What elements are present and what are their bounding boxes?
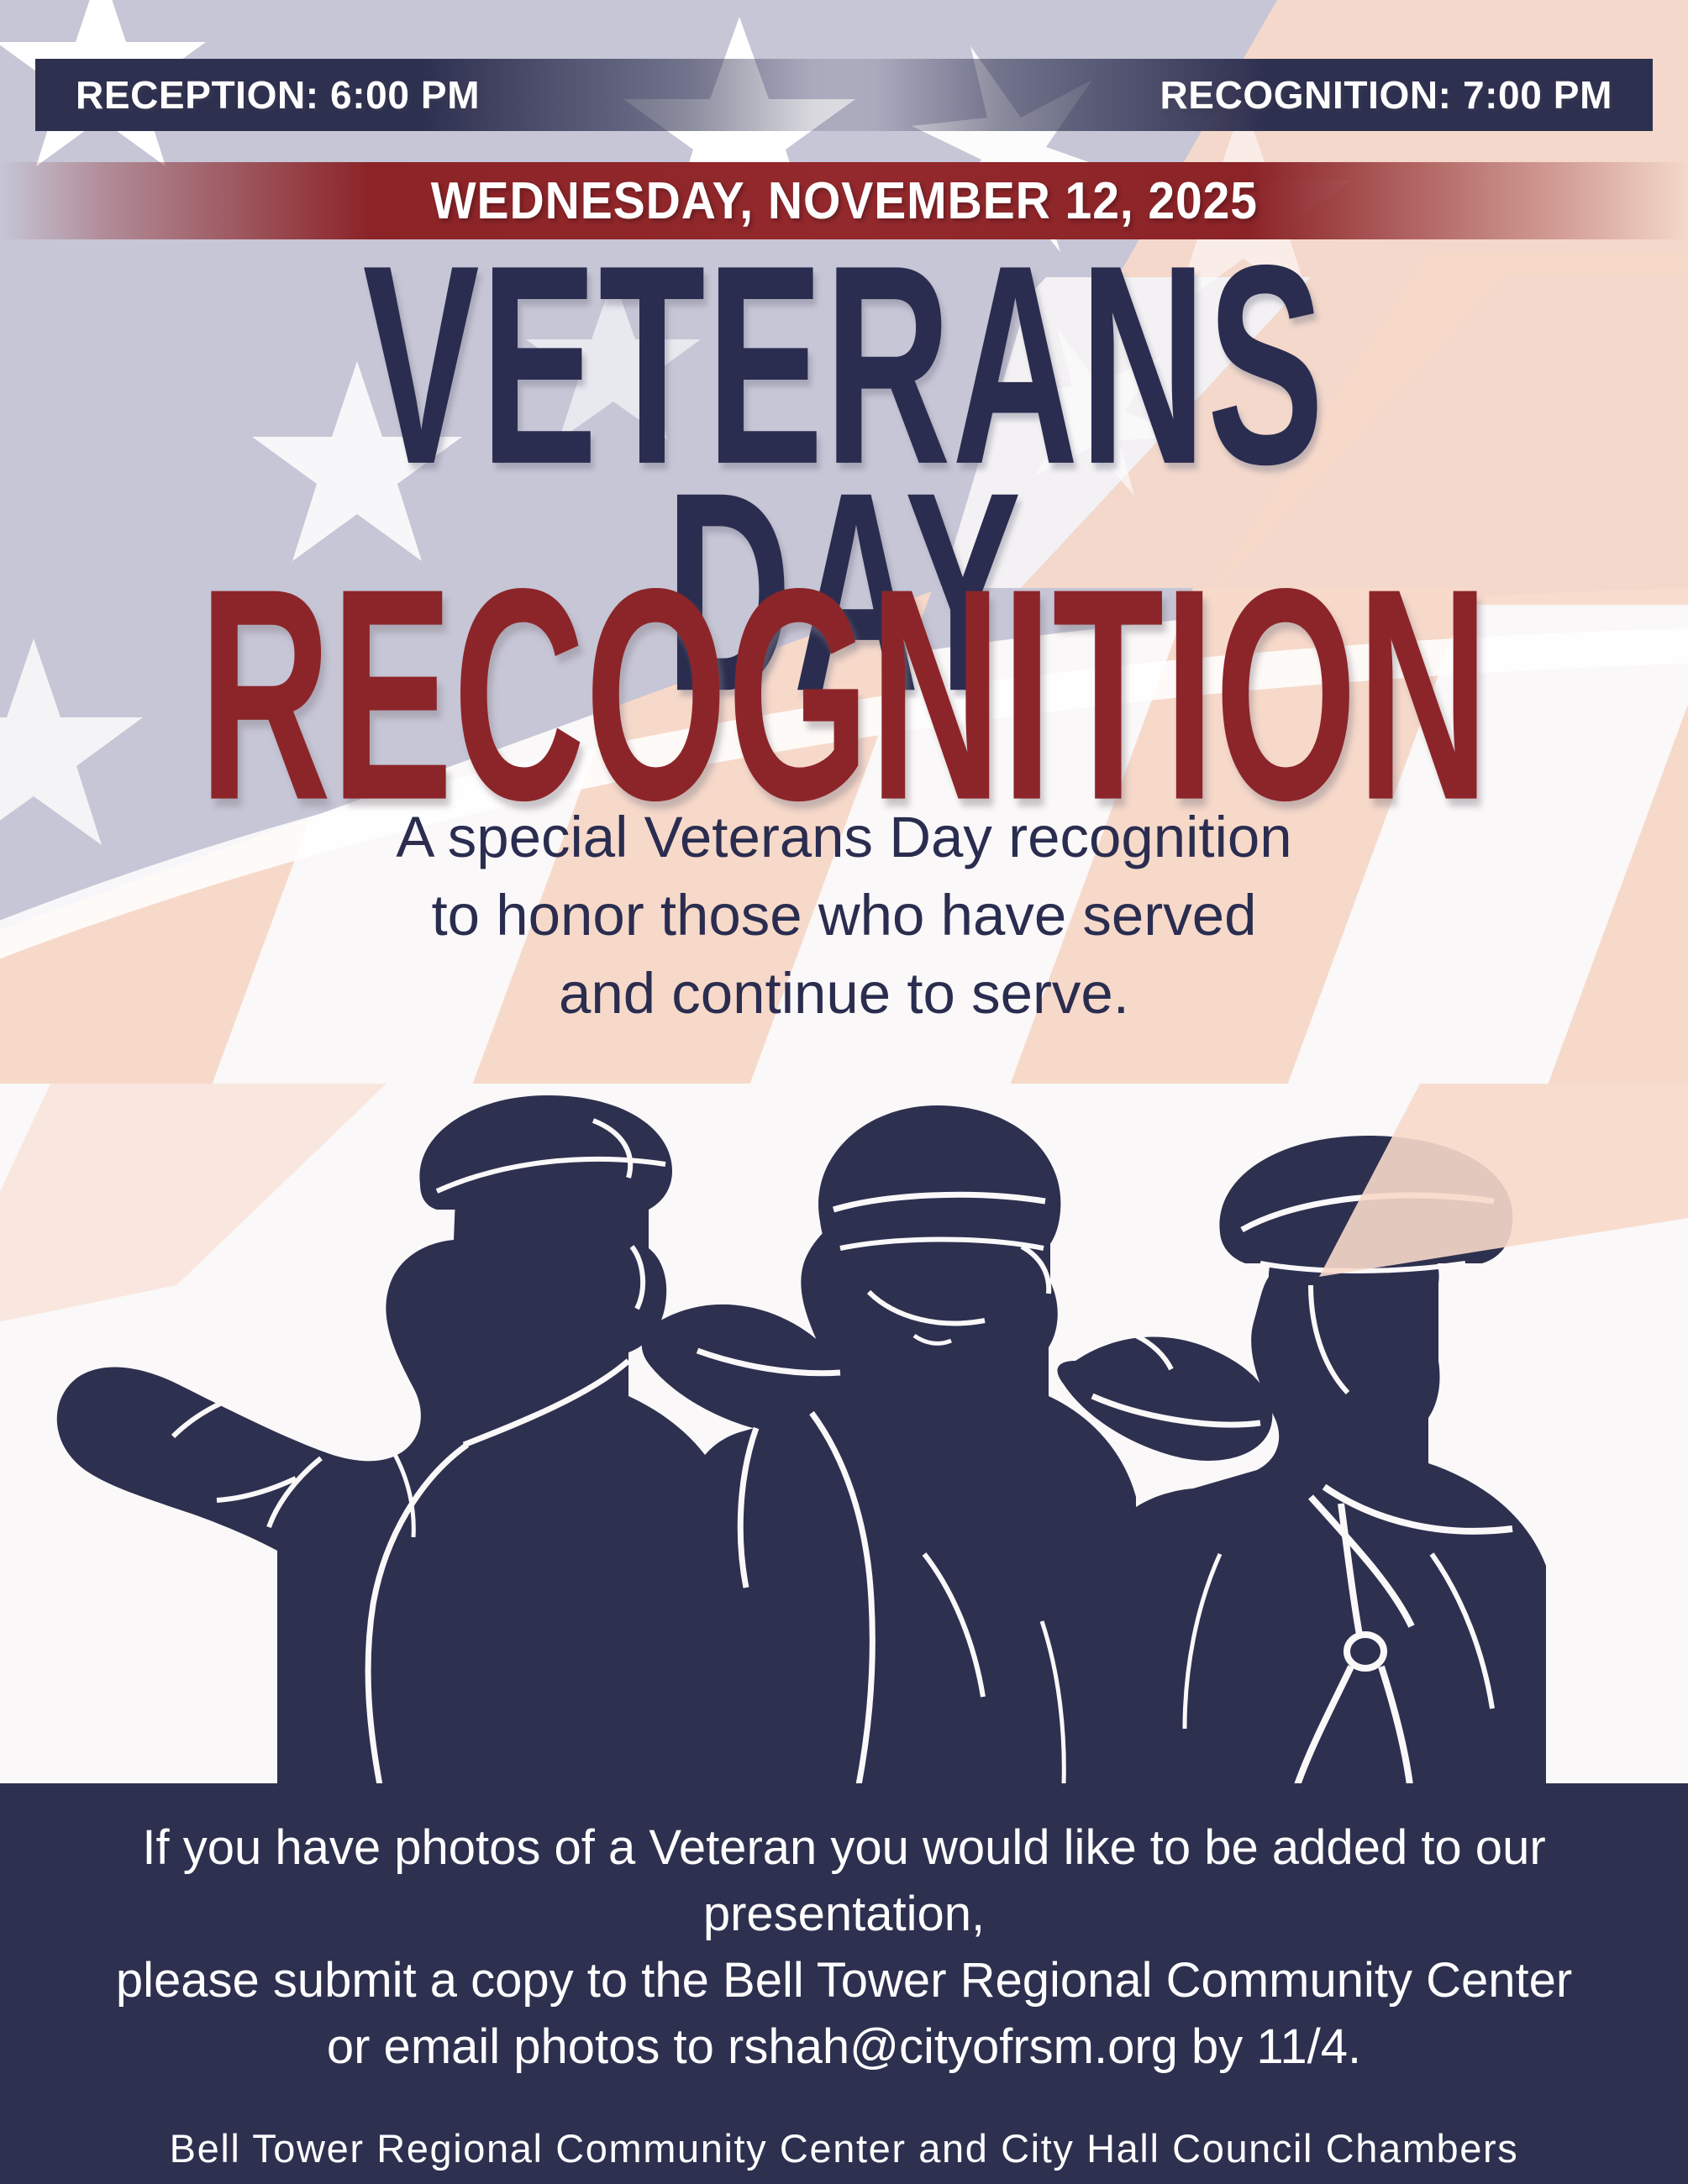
- saluting-silhouettes-illustration: [0, 1084, 1688, 1785]
- venue-name: Bell Tower Regional Community Center and…: [0, 2123, 1688, 2174]
- recognition-time-ribbon: RECOGNITION: 7:00 PM: [812, 59, 1653, 131]
- photo-note-line-3: or email photos to rshah@cityofrsm.org b…: [0, 2014, 1688, 2081]
- silhouettes-svg: [0, 1084, 1688, 1785]
- veterans-day-flyer: RECEPTION: 6:00 PM RECOGNITION: 7:00 PM …: [0, 0, 1688, 2184]
- event-description: A special Veterans Day recognition to ho…: [0, 798, 1688, 1032]
- recognition-time-label: RECOGNITION: 7:00 PM: [1160, 72, 1612, 118]
- footer-panel: If you have photos of a Veteran you woul…: [0, 1783, 1688, 2184]
- description-line-1: A special Veterans Day recognition: [0, 798, 1688, 876]
- photo-note-line-1: If you have photos of a Veteran you woul…: [0, 1815, 1688, 1948]
- headline-line-2: RECOGNITION: [169, 575, 1519, 816]
- photo-note-line-2: please submit a copy to the Bell Tower R…: [0, 1948, 1688, 2014]
- venue-block: Bell Tower Regional Community Center and…: [0, 2123, 1688, 2184]
- description-line-2: to honor those who have served: [0, 876, 1688, 954]
- reception-time-ribbon: RECEPTION: 6:00 PM: [35, 59, 876, 131]
- page-title: VETERANS DAY RECOGNITION: [0, 252, 1688, 758]
- venue-address: 22232 El Paseo, Rancho Santa Margarita: [0, 2174, 1688, 2184]
- description-line-3: and continue to serve.: [0, 954, 1688, 1032]
- reception-time-label: RECEPTION: 6:00 PM: [76, 72, 480, 118]
- photo-submission-note: If you have photos of a Veteran you woul…: [0, 1815, 1688, 2081]
